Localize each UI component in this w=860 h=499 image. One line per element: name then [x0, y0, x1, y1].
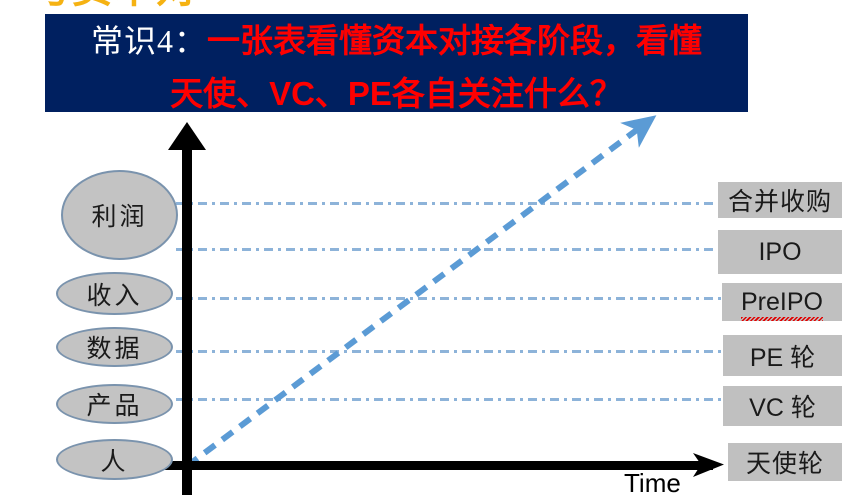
page-top-heading-cropped: 与资本对	[30, 0, 330, 12]
stage-ellipse-people-label: 人	[100, 442, 128, 478]
funding-box-vc-round[interactable]: VC 轮	[723, 386, 842, 426]
funding-box-preipo-label: PreIPO	[741, 288, 823, 317]
title-banner: 常识4：一张表看懂资本对接各阶段，看懂 天使、VC、PE各自关注什么？	[45, 14, 748, 112]
stage-ellipse-people[interactable]: 人	[56, 439, 173, 480]
stage-ellipse-product[interactable]: 产品	[56, 384, 173, 424]
title-banner-line1-text: 一张表看懂资本对接各阶段，看懂	[207, 22, 702, 59]
stage-ellipse-product-label: 产品	[86, 386, 142, 422]
connector-line-data-to-pe	[176, 350, 725, 353]
growth-trend-arrow	[150, 100, 690, 490]
stage-ellipse-data-label: 数据	[86, 329, 142, 365]
funding-box-preipo[interactable]: PreIPO	[722, 283, 842, 321]
stage-ellipse-data[interactable]: 数据	[56, 327, 173, 367]
funding-box-pe-round[interactable]: PE 轮	[723, 335, 842, 376]
slide-canvas: 与资本对 常识4：一张表看懂资本对接各阶段，看懂 天使、VC、PE各自关注什么？…	[0, 0, 860, 499]
title-banner-line-2: 天使、VC、PE各自关注什么？	[45, 71, 748, 124]
funding-box-ipo[interactable]: IPO	[718, 230, 842, 274]
funding-box-pe-round-label: PE 轮	[750, 338, 815, 374]
y-axis-arrowhead-icon	[168, 122, 206, 150]
connector-line-profit-to-merger	[176, 202, 721, 205]
funding-box-ipo-label: IPO	[758, 238, 801, 267]
connector-line-revenue-to-preipo	[176, 297, 724, 300]
funding-box-merger-acquisition[interactable]: 合并收购	[718, 182, 842, 218]
connector-line-product-to-vc	[176, 398, 725, 401]
funding-box-angel-round-label: 天使轮	[746, 444, 824, 480]
connector-line-profit-to-ipo	[176, 248, 721, 251]
stage-ellipse-revenue[interactable]: 收入	[56, 272, 173, 315]
stage-ellipse-revenue-label: 收入	[86, 276, 142, 312]
funding-box-angel-round[interactable]: 天使轮	[728, 443, 842, 481]
x-axis-label-time: Time	[624, 468, 681, 499]
stage-ellipse-profit-label: 利润	[91, 197, 147, 233]
title-banner-line-1: 常识4：一张表看懂资本对接各阶段，看懂	[45, 18, 748, 71]
y-axis	[182, 140, 192, 495]
title-banner-label: 常识4：	[91, 23, 207, 59]
stage-ellipse-profit[interactable]: 利润	[61, 170, 178, 260]
funding-box-vc-round-label: VC 轮	[749, 388, 816, 424]
funding-box-merger-acquisition-label: 合并收购	[728, 182, 832, 218]
title-banner-line2-text: 天使、VC、PE各自关注什么？	[170, 75, 623, 112]
